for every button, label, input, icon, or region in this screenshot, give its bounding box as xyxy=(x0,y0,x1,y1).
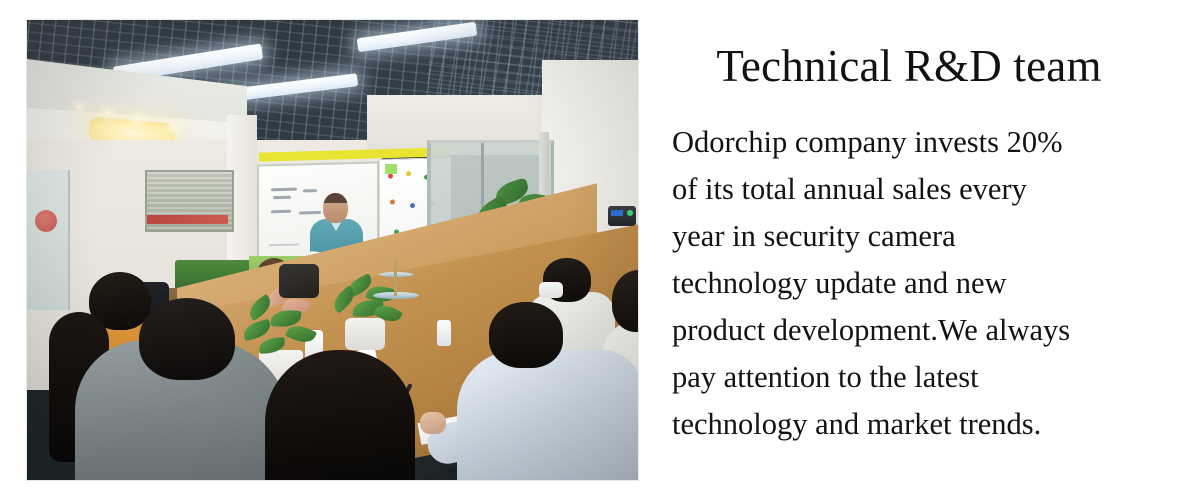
attendee-foreground-hair xyxy=(265,350,415,480)
office-chair xyxy=(279,264,319,298)
downlight-icon xyxy=(133,116,142,122)
access-panel-display xyxy=(611,210,623,216)
access-control-panel xyxy=(608,206,636,226)
body-paragraph: Odorchip company invests 20% of its tota… xyxy=(672,119,1178,448)
downlight-icon xyxy=(75,104,84,110)
water-bottle xyxy=(437,320,451,346)
team-photo xyxy=(27,20,638,480)
downlight-icon xyxy=(169,124,178,130)
attendee-blue-shirt xyxy=(457,350,638,480)
attendee-blue-shirt-head xyxy=(489,302,563,368)
page-title: Technical R&D team xyxy=(668,44,1178,89)
downlight-icon xyxy=(103,110,112,116)
text-column: Technical R&D team Odorchip company inve… xyxy=(668,20,1178,480)
attendee-gray-shirt-head xyxy=(139,298,235,380)
wall-logo xyxy=(35,210,57,232)
table-plant-foliage xyxy=(327,278,403,328)
photo-scene xyxy=(27,20,638,480)
face-mask xyxy=(539,282,563,298)
page-root: Technical R&D team Odorchip company inve… xyxy=(0,0,1200,500)
status-led-icon xyxy=(627,210,633,216)
window-red-band xyxy=(147,215,228,224)
presenter-head xyxy=(323,193,348,223)
sticky-note xyxy=(385,164,397,174)
attendee-blue-shirt-hand xyxy=(420,412,446,434)
tiered-stand-post xyxy=(394,260,397,296)
table-plant-foliage xyxy=(241,288,321,358)
left-glass-wall xyxy=(27,170,70,310)
